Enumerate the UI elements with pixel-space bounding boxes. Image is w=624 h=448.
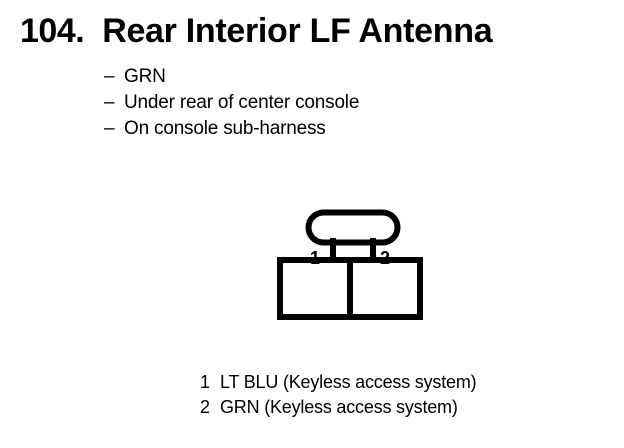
pin-legend: 1 LT BLU (Keyless access system) 2 GRN (…	[200, 370, 476, 420]
page-title-number: 104.	[20, 14, 84, 48]
list-item-label: Under rear of center console	[124, 90, 359, 116]
list-item-label: GRN	[124, 64, 166, 90]
connector-latch-icon	[309, 213, 398, 243]
list-item: – Under rear of center console	[104, 90, 359, 116]
dash-bullet-icon: –	[104, 64, 124, 90]
two-cavity-connector-icon	[277, 208, 423, 320]
list-item: – On console sub-harness	[104, 116, 359, 142]
list-item: – GRN	[104, 64, 359, 90]
list-item-label: On console sub-harness	[124, 116, 326, 142]
pin-legend-row: 1 LT BLU (Keyless access system)	[200, 370, 476, 395]
pin-legend-description: GRN (Keyless access system)	[220, 395, 458, 420]
cavity-number-1: 1	[305, 249, 325, 267]
dash-bullet-icon: –	[104, 116, 124, 142]
cavity-divider	[347, 260, 353, 317]
connector-diagram: 1 2	[277, 208, 423, 320]
pin-legend-description: LT BLU (Keyless access system)	[220, 370, 476, 395]
page-title-text: Rear Interior LF Antenna	[102, 14, 492, 48]
dash-bullet-icon: –	[104, 90, 124, 116]
pin-legend-row: 2 GRN (Keyless access system)	[200, 395, 476, 420]
pin-legend-number: 1	[200, 370, 220, 395]
detail-list: – GRN – Under rear of center console – O…	[104, 64, 359, 142]
page-title: 104. Rear Interior LF Antenna	[20, 14, 492, 48]
cavity-number-2: 2	[375, 249, 395, 267]
pin-legend-number: 2	[200, 395, 220, 420]
latch-stem-left-icon	[330, 238, 336, 260]
